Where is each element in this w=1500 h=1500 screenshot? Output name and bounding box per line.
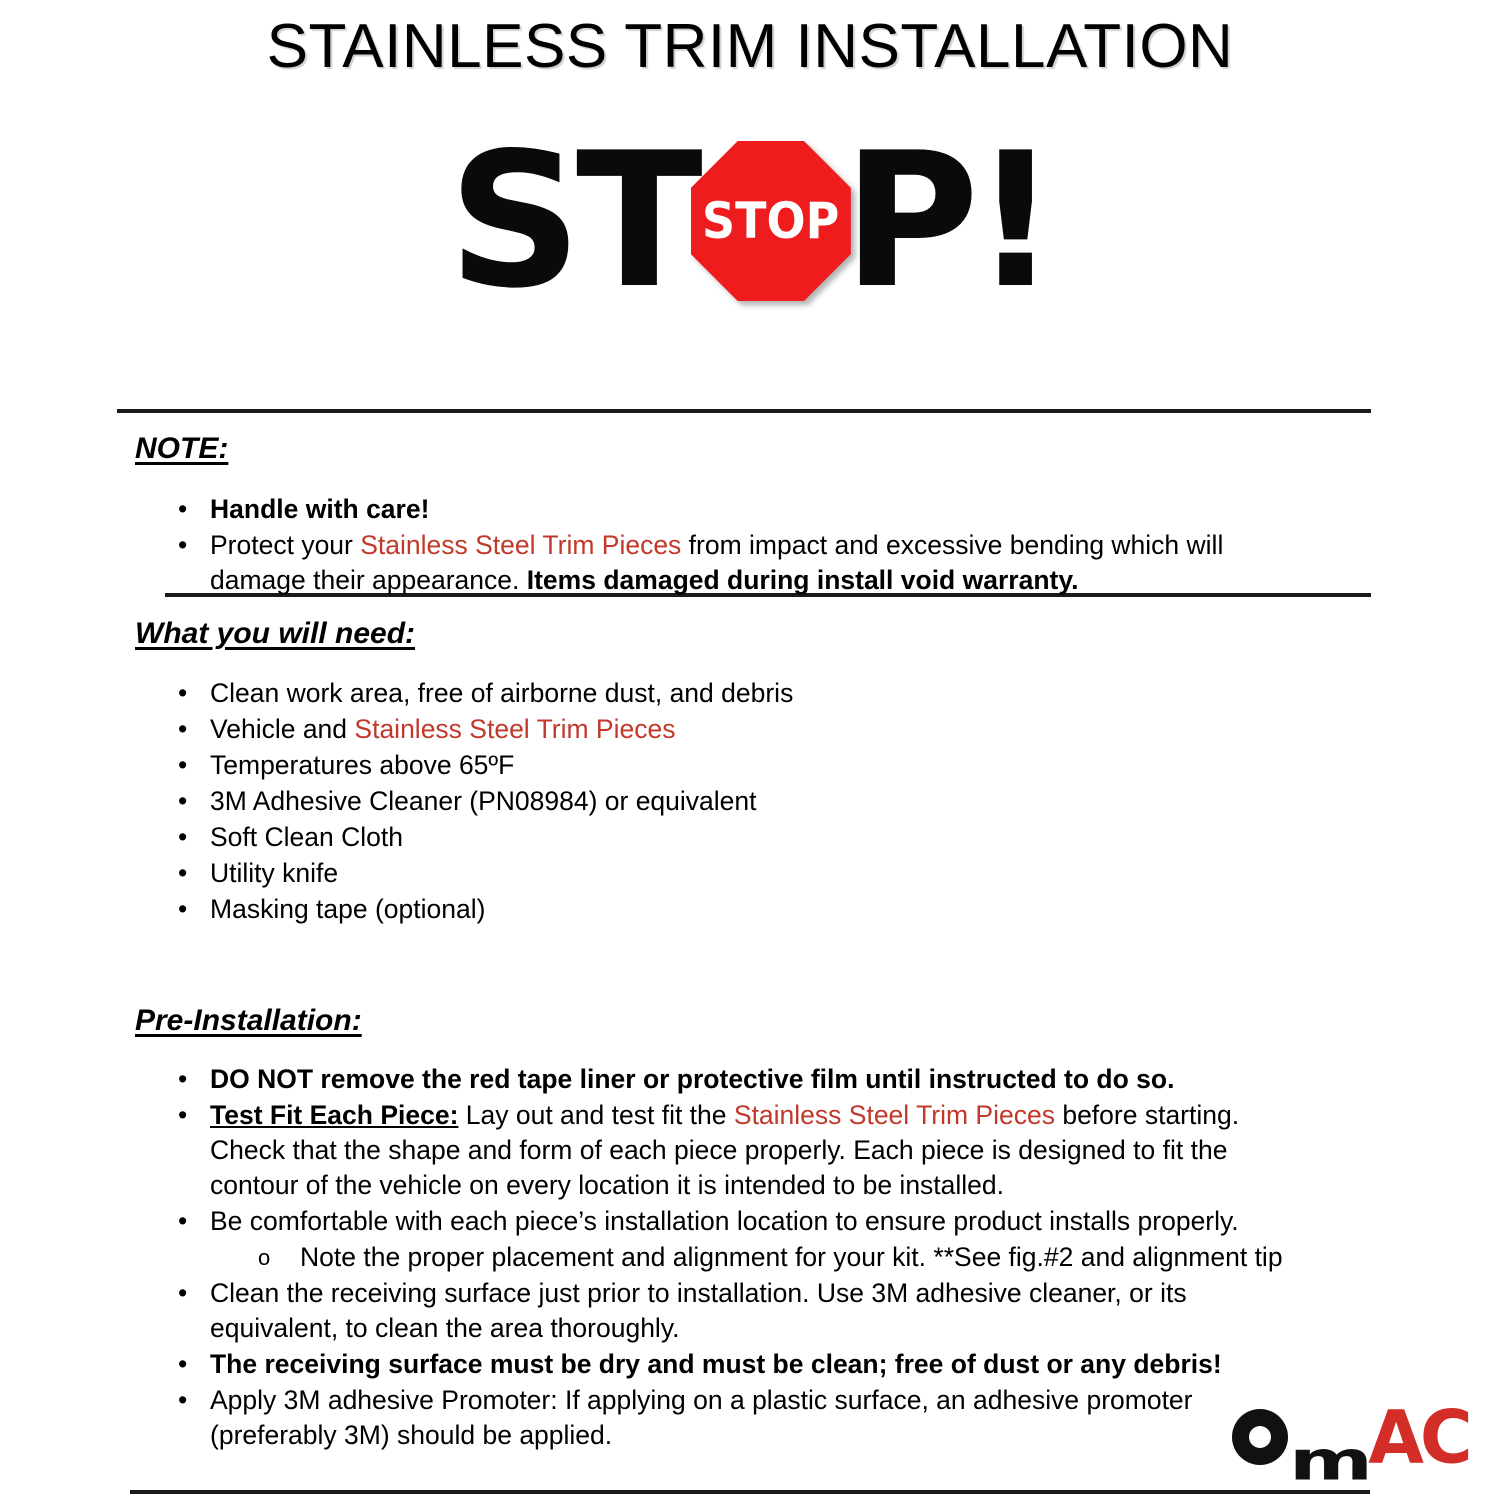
text-run: Clean work area, free of airborne dust, … xyxy=(210,678,793,708)
bullet-icon: • xyxy=(178,748,192,783)
list-item: •Soft Clean Cloth xyxy=(0,820,1500,855)
page-title: STAINLESS TRIM INSTALLATION xyxy=(0,0,1500,78)
text-run: Note the proper placement and alignment … xyxy=(300,1242,1283,1272)
stop-graphic-left-letters: ST xyxy=(448,141,697,301)
list-item: •Clean the receiving surface just prior … xyxy=(0,1276,1500,1346)
bullet-icon: • xyxy=(178,1347,192,1382)
divider-bottom xyxy=(130,1490,1370,1494)
list-item: •Protect your Stainless Steel Trim Piece… xyxy=(0,528,1500,598)
list-item: •Masking tape (optional) xyxy=(0,892,1500,927)
text-run: Soft Clean Cloth xyxy=(210,822,403,852)
text-run: Protect your xyxy=(210,530,360,560)
bullet-icon: • xyxy=(178,784,192,819)
bullet-icon: • xyxy=(178,492,192,527)
stop-sign-icon: STOP xyxy=(691,141,851,301)
stop-sign-octagon: STOP xyxy=(691,141,851,301)
stop-graphic: ST STOP P! xyxy=(0,126,1500,316)
bullet-icon: • xyxy=(178,676,192,711)
highlighted-term: Stainless Steel Trim Pieces xyxy=(354,714,675,744)
text-run: Utility knife xyxy=(210,858,338,888)
section-heading-what-you-will-need: What you will need: xyxy=(135,617,415,650)
text-run: Be comfortable with each piece’s install… xyxy=(210,1206,1239,1236)
text-run: Handle with care! xyxy=(210,494,429,524)
bullet-icon: • xyxy=(178,1204,192,1239)
highlighted-term: Stainless Steel Trim Pieces xyxy=(734,1100,1055,1130)
list-item: •DO NOT remove the red tape liner or pro… xyxy=(0,1062,1500,1097)
stop-sign-label: STOP xyxy=(702,196,839,246)
omac-logo: m AC xyxy=(1232,1398,1469,1476)
bullet-icon: • xyxy=(178,1098,192,1133)
list-item: •The receiving surface must be dry and m… xyxy=(0,1347,1500,1382)
omac-logo-ac-letters: AC xyxy=(1368,1400,1469,1473)
bullet-icon: • xyxy=(178,856,192,891)
text-run: DO NOT remove the red tape liner or prot… xyxy=(210,1064,1174,1094)
bullet-icon: • xyxy=(178,1383,192,1418)
text-run: 3M Adhesive Cleaner (PN08984) or equival… xyxy=(210,786,757,816)
text-run: Apply 3M adhesive Promoter: If applying … xyxy=(210,1385,1193,1450)
list-item: •Temperatures above 65ºF xyxy=(0,748,1500,783)
list-item: •Utility knife xyxy=(0,856,1500,891)
list-item: •Be comfortable with each piece’s instal… xyxy=(0,1204,1500,1239)
pre-installation-list: •DO NOT remove the red tape liner or pro… xyxy=(0,1062,1500,1454)
text-run: Test Fit Each Piece: xyxy=(210,1100,458,1130)
bullet-icon: • xyxy=(178,528,192,563)
divider-top xyxy=(117,409,1371,413)
bullet-icon: • xyxy=(178,1062,192,1097)
section-heading-note: NOTE: xyxy=(135,432,228,465)
omac-logo-m-letter: m xyxy=(1289,1433,1371,1488)
list-item: •Test Fit Each Piece: Lay out and test f… xyxy=(0,1098,1500,1203)
list-item: •Vehicle and Stainless Steel Trim Pieces xyxy=(0,712,1500,747)
text-run: Vehicle and xyxy=(210,714,354,744)
list-item: •Clean work area, free of airborne dust,… xyxy=(0,676,1500,711)
bullet-icon: • xyxy=(178,712,192,747)
what-you-need-list: •Clean work area, free of airborne dust,… xyxy=(0,676,1500,928)
note-list: •Handle with care!•Protect your Stainles… xyxy=(0,492,1500,599)
section-heading-pre-installation: Pre-Installation: xyxy=(135,1004,362,1037)
list-sub-item: oNote the proper placement and alignment… xyxy=(0,1240,1500,1275)
text-run: Lay out and test fit the xyxy=(458,1100,733,1130)
stop-graphic-right-letters: P! xyxy=(843,141,1052,301)
text-run: Clean the receiving surface just prior t… xyxy=(210,1278,1187,1343)
text-run: The receiving surface must be dry and mu… xyxy=(210,1349,1222,1379)
highlighted-term: Stainless Steel Trim Pieces xyxy=(360,530,681,560)
bullet-icon: • xyxy=(178,892,192,927)
list-item: •Handle with care! xyxy=(0,492,1500,527)
bullet-icon: • xyxy=(178,820,192,855)
list-item: •3M Adhesive Cleaner (PN08984) or equiva… xyxy=(0,784,1500,819)
text-run: Masking tape (optional) xyxy=(210,894,485,924)
text-run: Items damaged during install void warran… xyxy=(527,565,1079,595)
sub-bullet-icon: o xyxy=(258,1240,272,1275)
text-run: Temperatures above 65ºF xyxy=(210,750,514,780)
bullet-icon: • xyxy=(178,1276,192,1311)
omac-logo-o-mark xyxy=(1232,1409,1288,1465)
